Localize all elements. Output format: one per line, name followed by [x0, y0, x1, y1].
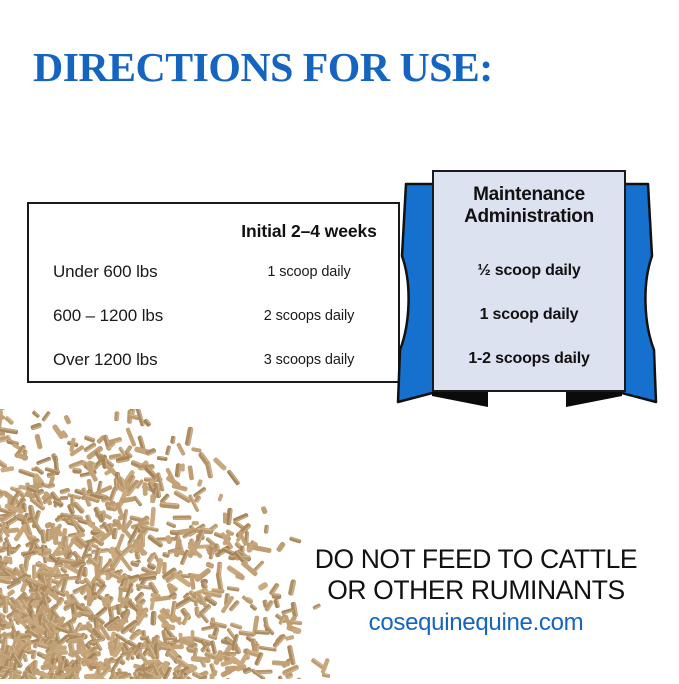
maintenance-administration-card: MaintenanceAdministration ½ scoop daily …: [432, 170, 626, 392]
column-header-initial: Initial 2–4 weeks: [214, 221, 404, 242]
feed-pellets-svg: [0, 409, 330, 679]
website-link[interactable]: cosequinequine.com: [286, 609, 666, 637]
dosage-table: Initial 2–4 weeks Under 600 lbs 1 scoop …: [27, 202, 400, 383]
maintenance-heading-line-1: Maintenance: [473, 184, 585, 205]
maintenance-dose-2: 1-2 scoops daily: [434, 350, 624, 368]
maintenance-dose-1: 1 scoop daily: [434, 306, 624, 324]
table-row-initial-1: 2 scoops daily: [214, 308, 404, 324]
feed-pellets-image: [0, 409, 330, 679]
table-row-weight-2: Over 1200 lbs: [53, 350, 158, 370]
ribbon-left-wing: [398, 184, 436, 402]
page-title: DIRECTIONS FOR USE:: [33, 47, 493, 88]
table-row-initial-2: 3 scoops daily: [214, 352, 404, 368]
maintenance-dose-0: ½ scoop daily: [434, 262, 624, 280]
maintenance-heading-line-2: Administration: [464, 206, 594, 227]
table-row-initial-0: 1 scoop daily: [214, 264, 404, 280]
table-row-weight-1: 600 – 1200 lbs: [53, 306, 163, 326]
footer-block: DO NOT FEED TO CATTLE OR OTHER RUMINANTS…: [286, 544, 666, 637]
maintenance-card-heading: MaintenanceAdministration: [434, 184, 624, 229]
do-not-feed-warning: DO NOT FEED TO CATTLE OR OTHER RUMINANTS: [286, 544, 666, 605]
table-row-weight-0: Under 600 lbs: [53, 262, 158, 282]
